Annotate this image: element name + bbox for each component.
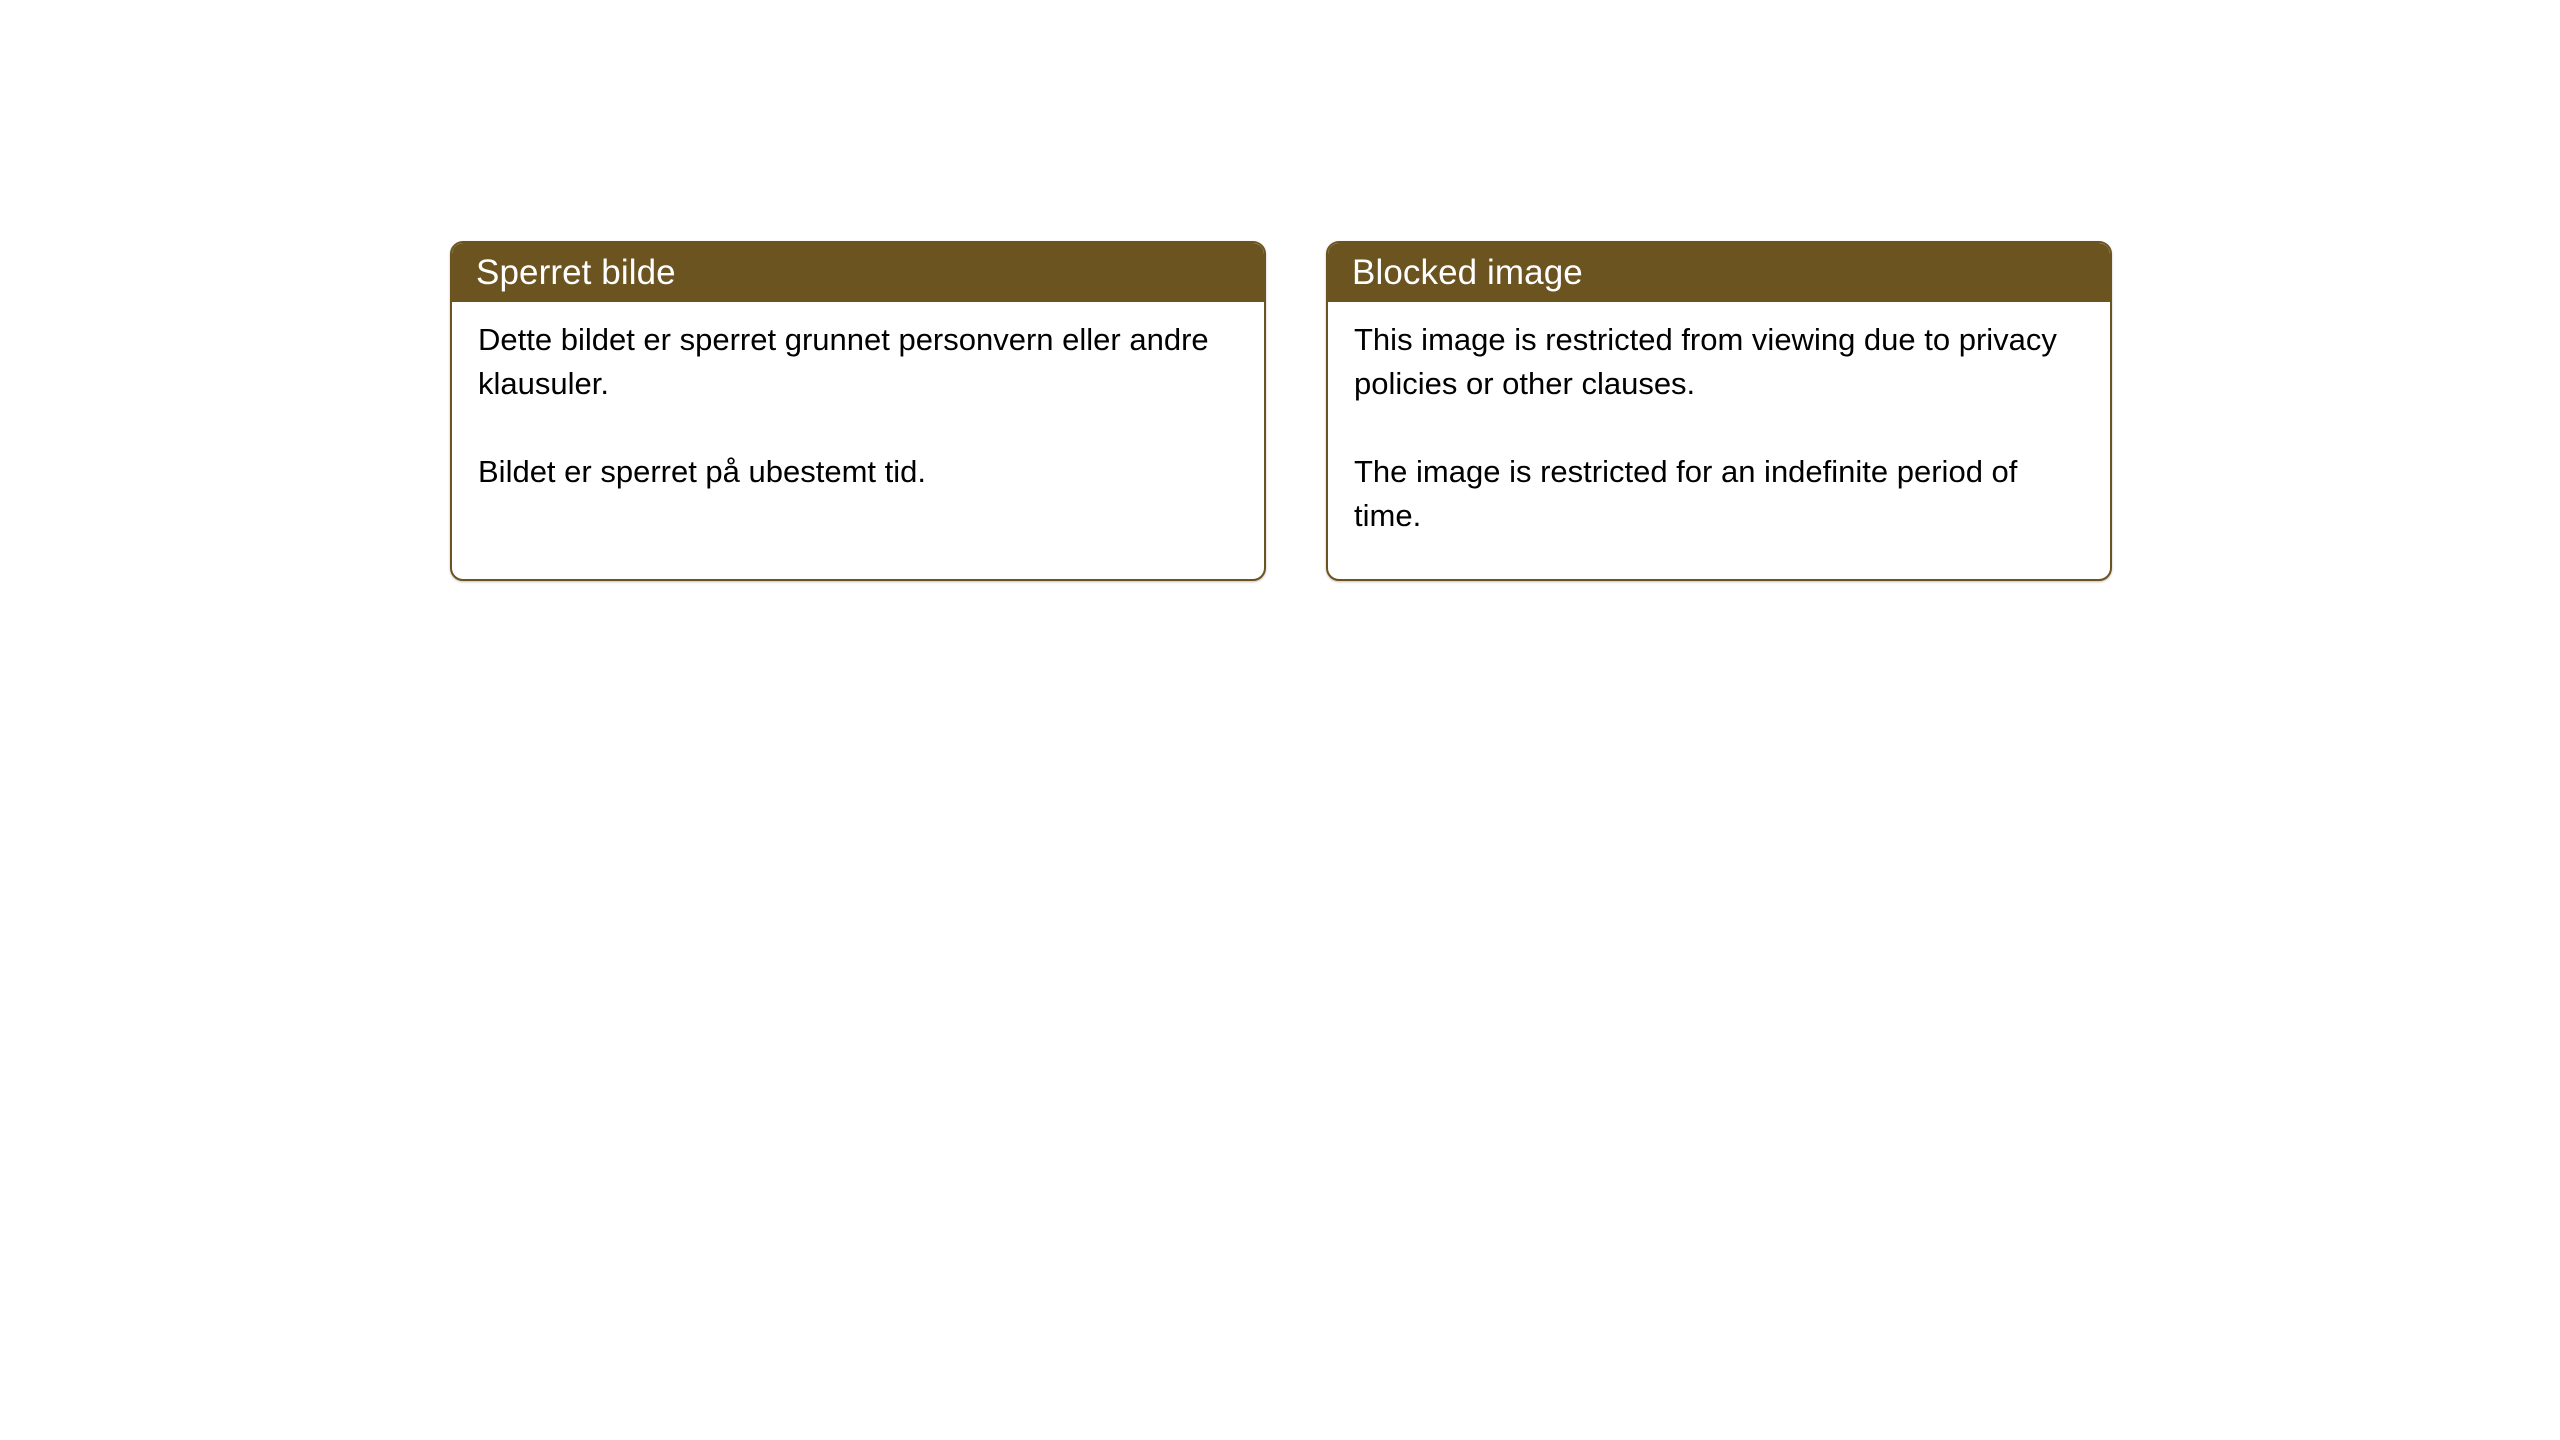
blocked-image-card-norwegian: Sperret bilde Dette bildet er sperret gr… <box>450 241 1266 581</box>
paragraph-spacer-norwegian <box>478 406 1240 450</box>
paragraph-spacer-english <box>1354 406 2086 450</box>
card-header-norwegian: Sperret bilde <box>452 243 1264 302</box>
card-body-english: This image is restricted from viewing du… <box>1328 302 2110 538</box>
card-paragraph-norwegian-1: Dette bildet er sperret grunnet personve… <box>478 318 1240 406</box>
card-title-english: Blocked image <box>1352 255 1583 290</box>
card-body-norwegian: Dette bildet er sperret grunnet personve… <box>452 302 1264 494</box>
page-root: { "page": { "background_color": "#ffffff… <box>0 0 2560 1440</box>
card-header-english: Blocked image <box>1328 243 2110 302</box>
blocked-image-card-english: Blocked image This image is restricted f… <box>1326 241 2112 581</box>
card-paragraph-english-1: This image is restricted from viewing du… <box>1354 318 2086 406</box>
card-title-norwegian: Sperret bilde <box>476 255 676 290</box>
blocked-image-notice-group: Sperret bilde Dette bildet er sperret gr… <box>450 241 2112 581</box>
card-paragraph-english-2: The image is restricted for an indefinit… <box>1354 450 2086 538</box>
card-paragraph-norwegian-2: Bildet er sperret på ubestemt tid. <box>478 450 1240 494</box>
